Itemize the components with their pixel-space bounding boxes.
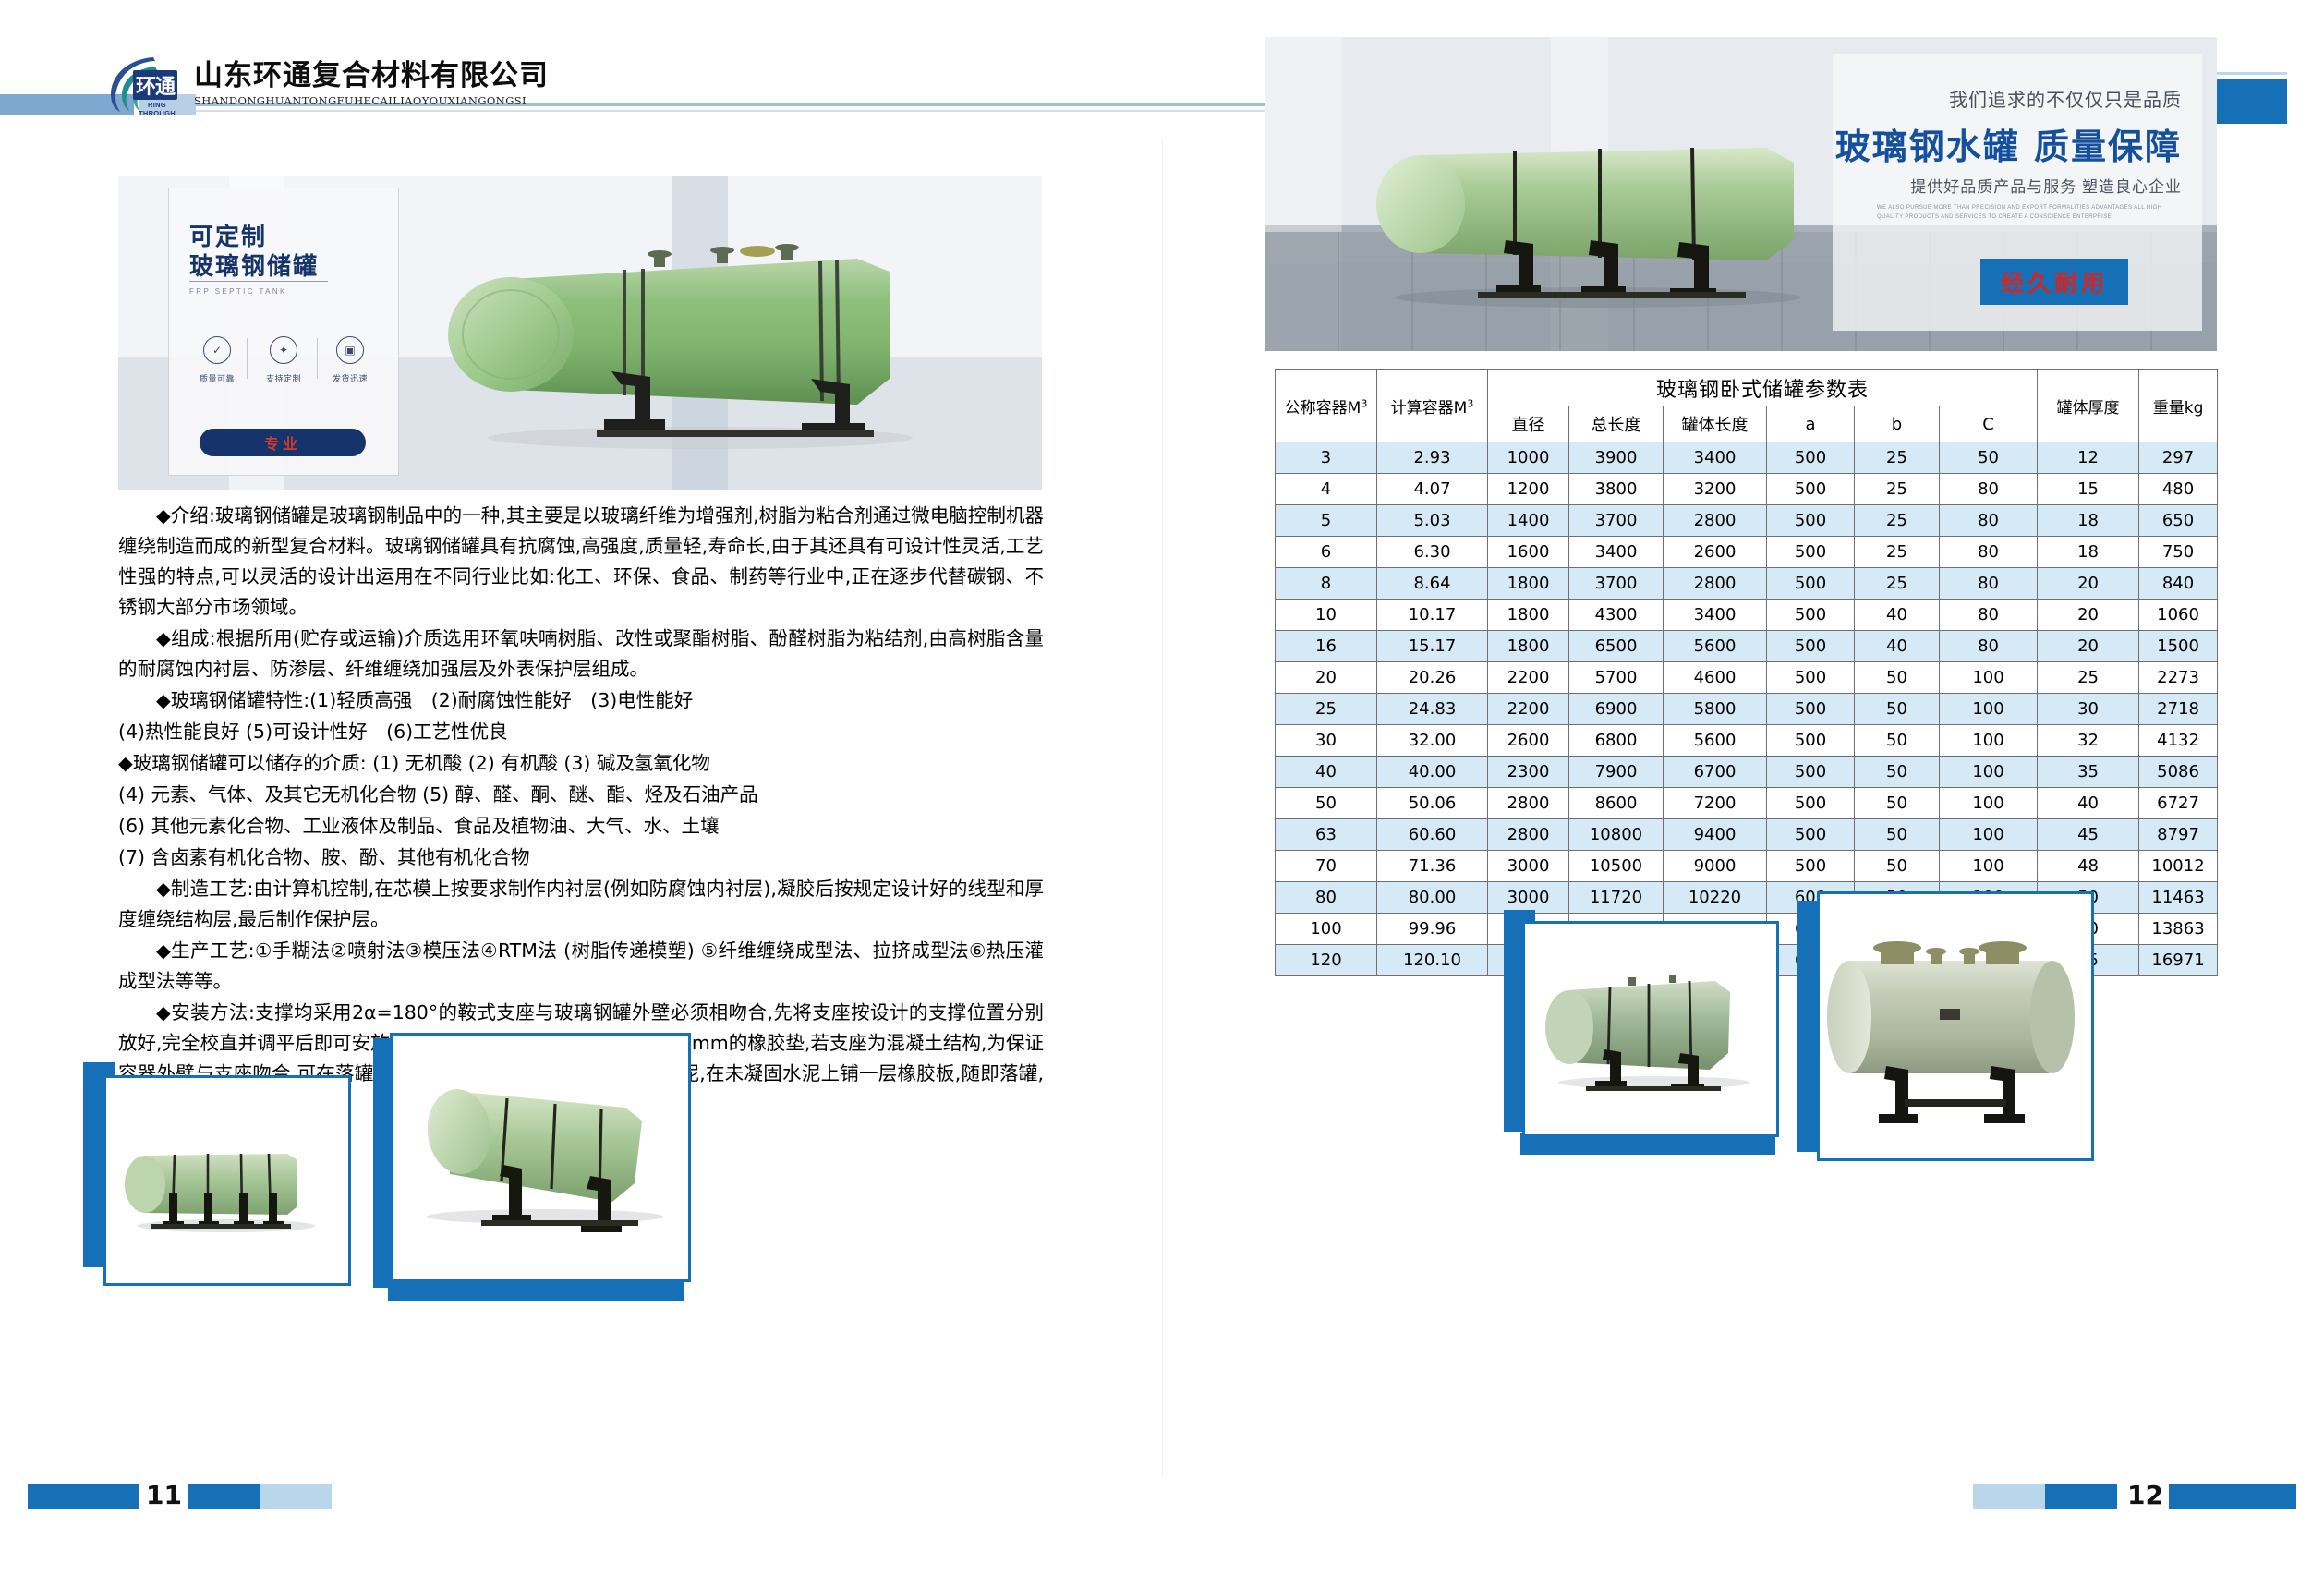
table-cell: 50.06 (1377, 788, 1488, 819)
table-cell: 18 (2038, 537, 2139, 568)
table-cell: 500 (1767, 474, 1855, 505)
table-cell: 40.00 (1377, 757, 1488, 788)
table-cell: 18 (2038, 505, 2139, 537)
table-cell: 1500 (2139, 631, 2218, 662)
frp-tank-photo-3 (1525, 924, 1776, 1134)
description-paragraph: ◆玻璃钢储罐特性:(1)轻质高强 (2)耐腐蚀性能好 (3)电性能好 (118, 685, 1044, 716)
hero-left-feature-list: ✓ 质量可靠 ✦ 支持定制 ▣ 发货迅速 (184, 336, 383, 384)
footer-left-block-2 (188, 1484, 260, 1509)
product-photo-frame-3 (1504, 910, 1781, 1155)
table-row: 2524.8322006900580050050100302718 (1276, 694, 2218, 725)
table-cell: 5086 (2139, 757, 2218, 788)
footer-left-block-1 (28, 1484, 139, 1509)
quality-icon: ✓ (203, 336, 231, 364)
table-cell: 100 (1940, 694, 2038, 725)
table-cell: 30 (1276, 725, 1377, 757)
frame-2-inner (390, 1033, 691, 1282)
header-calculated-volume: 计算容器M3 (1377, 370, 1488, 442)
table-cell: 5700 (1569, 662, 1664, 694)
table-row: 44.07120038003200500258015480 (1276, 474, 2218, 505)
table-cell: 100 (1276, 914, 1377, 945)
header-calculated-volume-sup: 3 (1467, 397, 1473, 409)
table-row: 32.93100039003400500255012297 (1276, 442, 2218, 474)
table-cell: 80 (1276, 882, 1377, 914)
table-cell: 480 (2139, 474, 2218, 505)
table-cell: 2.93 (1377, 442, 1488, 474)
table-row: 4040.0023007900670050050100355086 (1276, 757, 2218, 788)
table-cell: 100 (1940, 725, 2038, 757)
table-cell: 3800 (1569, 474, 1664, 505)
table-cell: 500 (1767, 537, 1855, 568)
table-cell: 3400 (1664, 442, 1767, 474)
table-cell: 4600 (1664, 662, 1767, 694)
table-cell: 25 (1855, 505, 1940, 537)
footer-left-block-3 (260, 1484, 332, 1509)
table-cell: 750 (2139, 537, 2218, 568)
table-cell: 16971 (2139, 945, 2218, 976)
table-cell: 50 (1855, 725, 1940, 757)
table-row: 7071.363000105009000500501004810012 (1276, 851, 2218, 882)
description-paragraph: (7) 含卤素有机化合物、胺、酚、其他有机化合物 (118, 842, 1044, 873)
table-cell: 25 (1855, 537, 1940, 568)
table-cell: 16 (1276, 631, 1377, 662)
table-cell: 500 (1767, 631, 1855, 662)
table-cell: 60.60 (1377, 819, 1488, 851)
table-cell: 1060 (2139, 600, 2218, 631)
hero-right-line4: WE ALSO PURSUE MORE THAN PRECISION AND E… (1877, 203, 2182, 222)
hero-left-cta-button[interactable]: 专业 (200, 429, 366, 456)
table-cell: 5800 (1664, 694, 1767, 725)
table-cell: 5.03 (1377, 505, 1488, 537)
table-cell: 35 (2038, 757, 2139, 788)
company-name-block: 山东环通复合材料有限公司 SHANDONGHUANTONGFUHECAILIAO… (194, 61, 549, 107)
table-cell: 3000 (1488, 882, 1569, 914)
table-cell: 25 (1855, 442, 1940, 474)
hero-left-divider (189, 281, 328, 282)
table-cell: 45 (2038, 819, 2139, 851)
table-cell: 11463 (2139, 882, 2218, 914)
table-cell: 6.30 (1377, 537, 1488, 568)
product-description-text: ◆介绍:玻璃钢储罐是玻璃钢制品中的一种,其主要是以玻璃纤维为增强剂,树脂为粘合剂… (118, 501, 1044, 1121)
spec-table-header-row-1: 公称容器M3 计算容器M3 玻璃钢卧式储罐参数表 罐体厚度 重量kg (1276, 370, 2218, 406)
table-cell: 9000 (1664, 851, 1767, 882)
table-cell: 120.10 (1377, 945, 1488, 976)
table-cell: 20 (2038, 600, 2139, 631)
table-cell: 7200 (1664, 788, 1767, 819)
product-photo-frame-4 (1797, 891, 2092, 1164)
table-cell: 2600 (1488, 725, 1569, 757)
table-cell: 10 (1276, 600, 1377, 631)
table-cell: 8797 (2139, 819, 2218, 851)
table-cell: 80 (1940, 474, 2038, 505)
table-cell: 2273 (2139, 662, 2218, 694)
logo-badge-text: 环通 (133, 70, 177, 100)
table-cell: 12 (2038, 442, 2139, 474)
table-cell: 80 (1940, 568, 2038, 600)
table-cell: 500 (1767, 662, 1855, 694)
spec-subheader-cell: b (1855, 406, 1940, 442)
table-cell: 10800 (1569, 819, 1664, 851)
footer-right-block-3 (2169, 1484, 2296, 1509)
table-row: 1615.171800650056005004080201500 (1276, 631, 2218, 662)
product-photo-frame-2 (373, 1033, 696, 1301)
table-cell: 30 (2038, 694, 2139, 725)
footer-right-block-1 (1973, 1484, 2045, 1509)
table-cell: 11720 (1569, 882, 1664, 914)
table-cell: 24.83 (1377, 694, 1488, 725)
hero-right-line3: 提供好品质产品与服务 塑造良心企业 (1910, 174, 2182, 197)
table-cell: 2800 (1664, 505, 1767, 537)
table-cell: 25 (1855, 568, 1940, 600)
hero-left-feature-1: ✓ 质量可靠 (188, 336, 247, 384)
table-cell: 2800 (1488, 819, 1569, 851)
frp-tank-photo-1 (106, 1078, 348, 1283)
table-row: 3032.0026006800560050050100324132 (1276, 725, 2218, 757)
frame-3-inner (1522, 921, 1779, 1137)
table-cell: 2600 (1664, 537, 1767, 568)
table-cell: 40 (1276, 757, 1377, 788)
table-cell: 15.17 (1377, 631, 1488, 662)
table-cell: 500 (1767, 757, 1855, 788)
hero-left-feature-3: ▣ 发货迅速 (321, 336, 380, 384)
hero-left-title-line2: 玻璃钢储罐 (189, 248, 319, 282)
table-cell: 6 (1276, 537, 1377, 568)
table-cell: 3000 (1488, 851, 1569, 882)
table-cell: 2800 (1664, 568, 1767, 600)
table-cell: 20 (1276, 662, 1377, 694)
product-photo-frame-1 (83, 1062, 351, 1289)
table-cell: 2200 (1488, 662, 1569, 694)
spec-table: 公称容器M3 计算容器M3 玻璃钢卧式储罐参数表 罐体厚度 重量kg 直径总长度… (1275, 369, 2218, 976)
table-row: 2020.2622005700460050050100252273 (1276, 662, 2218, 694)
description-paragraph: ◆生产工艺:①手糊法②喷射法③模压法④RTM法 (树脂传递模塑) ⑤纤维缠绕成型… (118, 936, 1044, 997)
table-cell: 100 (1940, 757, 2038, 788)
footer-page-number-left: 11 (146, 1480, 182, 1510)
table-cell: 6900 (1569, 694, 1664, 725)
table-row: 5050.0628008600720050050100406727 (1276, 788, 2218, 819)
spec-subheader-cell: 直径 (1488, 406, 1569, 442)
header-wall-thickness: 罐体厚度 (2038, 370, 2139, 442)
table-cell: 10220 (1664, 882, 1767, 914)
table-cell: 3400 (1664, 600, 1767, 631)
table-row: 66.30160034002600500258018750 (1276, 537, 2218, 568)
shipping-icon: ▣ (336, 336, 364, 364)
table-cell: 80 (1940, 600, 2038, 631)
table-cell: 6500 (1569, 631, 1664, 662)
table-cell: 10500 (1569, 851, 1664, 882)
table-cell: 8600 (1569, 788, 1664, 819)
table-cell: 120 (1276, 945, 1377, 976)
table-cell: 500 (1767, 568, 1855, 600)
table-cell: 63 (1276, 819, 1377, 851)
table-cell: 4 (1276, 474, 1377, 505)
table-cell: 7900 (1569, 757, 1664, 788)
table-cell: 50 (1855, 757, 1940, 788)
table-cell: 3700 (1569, 505, 1664, 537)
table-cell: 50 (1855, 694, 1940, 725)
table-cell: 2300 (1488, 757, 1569, 788)
table-cell: 80.00 (1377, 882, 1488, 914)
table-cell: 4.07 (1377, 474, 1488, 505)
hero-left-caption-card: 可定制 玻璃钢储罐 FRP SEPTIC TANK ✓ 质量可靠 ✦ 支持定制 (169, 188, 398, 475)
table-cell: 8 (1276, 568, 1377, 600)
table-cell: 20 (2038, 631, 2139, 662)
table-cell: 10.17 (1377, 600, 1488, 631)
table-cell: 500 (1767, 442, 1855, 474)
table-cell: 15 (2038, 474, 2139, 505)
table-cell: 40 (1855, 600, 1940, 631)
table-cell: 6700 (1664, 757, 1767, 788)
table-cell: 99.96 (1377, 914, 1488, 945)
hero-right-badge: 经久耐用 (1980, 259, 2128, 305)
table-cell: 3200 (1664, 474, 1767, 505)
table-row: 88.64180037002800500258020840 (1276, 568, 2218, 600)
brochure-spread: 环通 RING THROUGH 山东环通复合材料有限公司 SHANDONGHUA… (0, 0, 2324, 1587)
table-cell: 500 (1767, 600, 1855, 631)
table-cell: 500 (1767, 505, 1855, 537)
table-cell: 25 (1855, 474, 1940, 505)
hero-left-subtitle-en: FRP SEPTIC TANK (189, 287, 287, 296)
table-cell: 25 (2038, 662, 2139, 694)
table-cell: 5600 (1664, 631, 1767, 662)
table-cell: 10012 (2139, 851, 2218, 882)
frame-1-inner (103, 1075, 351, 1286)
footer-right-block-2 (2045, 1484, 2117, 1509)
table-cell: 1000 (1488, 442, 1569, 474)
spec-subheader-cell: 罐体长度 (1664, 406, 1767, 442)
description-paragraph: ◆介绍:玻璃钢储罐是玻璃钢制品中的一种,其主要是以玻璃纤维为增强剂,树脂为粘合剂… (118, 501, 1044, 623)
table-cell: 500 (1767, 725, 1855, 757)
frp-tank-photo-banner (1349, 102, 1847, 314)
frp-tank-photo-main (423, 224, 940, 454)
description-paragraph: (4) 元素、气体、及其它无机化合物 (5) 醇、醛、酮、醚、酯、烃及石油产品 (118, 780, 1044, 810)
description-paragraph: (6) 其他元素化合物、工业液体及制品、食品及植物油、大气、水、土壤 (118, 811, 1044, 842)
header-nominal-volume-text: 公称容器M (1285, 399, 1362, 418)
table-cell: 50 (1940, 442, 2038, 474)
header-nominal-volume-sup: 3 (1361, 397, 1367, 409)
table-cell: 1800 (1488, 568, 1569, 600)
header-nominal-volume: 公称容器M3 (1276, 370, 1377, 442)
logo-english-text: RING THROUGH (133, 101, 181, 117)
table-cell: 6727 (2139, 788, 2218, 819)
table-cell: 3900 (1569, 442, 1664, 474)
table-row: 1010.171800430034005004080201060 (1276, 600, 2218, 631)
table-cell: 71.36 (1377, 851, 1488, 882)
spec-subheader-cell: C (1940, 406, 2038, 442)
table-cell: 6800 (1569, 725, 1664, 757)
table-cell: 3 (1276, 442, 1377, 474)
hero-image-left: 可定制 玻璃钢储罐 FRP SEPTIC TANK ✓ 质量可靠 ✦ 支持定制 (118, 176, 1042, 490)
hero-right-line1: 我们追求的不仅仅只是品质 (1949, 85, 2182, 112)
logo-mark-icon: 环通 RING THROUGH (109, 54, 179, 115)
table-cell: 1600 (1488, 537, 1569, 568)
table-cell: 4132 (2139, 725, 2218, 757)
table-row: 55.03140037002800500258018650 (1276, 505, 2218, 537)
table-cell: 840 (2139, 568, 2218, 600)
table-cell: 8.64 (1377, 568, 1488, 600)
table-cell: 3700 (1569, 568, 1664, 600)
table-cell: 32.00 (1377, 725, 1488, 757)
table-row: 6360.60280010800940050050100458797 (1276, 819, 2218, 851)
table-cell: 5600 (1664, 725, 1767, 757)
footer-page-number-right: 12 (2127, 1480, 2163, 1510)
table-cell: 13863 (2139, 914, 2218, 945)
table-cell: 2200 (1488, 694, 1569, 725)
table-cell: 32 (2038, 725, 2139, 757)
table-cell: 1400 (1488, 505, 1569, 537)
left-page: 可定制 玻璃钢储罐 FRP SEPTIC TANK ✓ 质量可靠 ✦ 支持定制 (0, 139, 1162, 1587)
table-cell: 2718 (2139, 694, 2218, 725)
table-cell: 1200 (1488, 474, 1569, 505)
table-cell: 100 (1940, 788, 2038, 819)
table-cell: 40 (2038, 788, 2139, 819)
table-cell: 50 (1855, 788, 1940, 819)
table-cell: 4300 (1569, 600, 1664, 631)
table-cell: 3400 (1569, 537, 1664, 568)
spec-table-wrapper: 公称容器M3 计算容器M3 玻璃钢卧式储罐参数表 罐体厚度 重量kg 直径总长度… (1275, 369, 2217, 976)
table-cell: 50 (1855, 851, 1940, 882)
table-cell: 500 (1767, 851, 1855, 882)
hero-left-feature-2: ✦ 支持定制 (254, 336, 313, 384)
header-group-title: 玻璃钢卧式储罐参数表 (1488, 370, 2038, 406)
table-cell: 20 (2038, 568, 2139, 600)
hero-right-line2: 玻璃钢水罐 质量保障 (1835, 118, 2182, 169)
table-cell: 70 (1276, 851, 1377, 882)
hero-image-right: 我们追求的不仅仅只是品质 玻璃钢水罐 质量保障 提供好品质产品与服务 塑造良心企… (1265, 37, 2217, 351)
hero-left-feature-1-label: 质量可靠 (188, 372, 247, 384)
table-cell: 100 (1940, 851, 2038, 882)
table-cell: 1800 (1488, 631, 1569, 662)
company-name-en: SHANDONGHUANTONGFUHECAILIAOYOUXIANGONGSI (194, 94, 549, 107)
table-cell: 1800 (1488, 600, 1569, 631)
table-cell: 5 (1276, 505, 1377, 537)
spec-subheader-cell: a (1767, 406, 1855, 442)
table-cell: 80 (1940, 631, 2038, 662)
table-cell: 500 (1767, 694, 1855, 725)
company-logo: 环通 RING THROUGH 山东环通复合材料有限公司 SHANDONGHUA… (109, 54, 549, 115)
page-footer: 11 12 (0, 1474, 2324, 1530)
table-cell: 48 (2038, 851, 2139, 882)
frp-tank-photo-2 (393, 1036, 688, 1279)
description-paragraph: ◆制造工艺:由计算机控制,在芯模上按要求制作内衬层(例如防腐蚀内衬层),凝胶后按… (118, 874, 1044, 935)
header-calculated-volume-text: 计算容器M (1391, 399, 1468, 418)
table-cell: 500 (1767, 819, 1855, 851)
hero-left-feature-2-label: 支持定制 (254, 372, 313, 384)
table-cell: 20.26 (1377, 662, 1488, 694)
spec-subheader-cell: 总长度 (1569, 406, 1664, 442)
table-cell: 50 (1855, 662, 1940, 694)
company-name-cn: 山东环通复合材料有限公司 (194, 61, 549, 91)
table-cell: 80 (1940, 537, 2038, 568)
description-paragraph: (4)热性能良好 (5)可设计性好 (6)工艺性优良 (118, 717, 1044, 747)
table-cell: 297 (2139, 442, 2218, 474)
table-cell: 100 (1940, 662, 2038, 694)
table-cell: 50 (1276, 788, 1377, 819)
hero-left-feature-3-label: 发货迅速 (321, 372, 380, 384)
table-cell: 100 (1940, 819, 2038, 851)
table-cell: 500 (1767, 788, 1855, 819)
table-cell: 650 (2139, 505, 2218, 537)
table-cell: 40 (1855, 631, 1940, 662)
description-paragraph: ◆玻璃钢储罐可以储存的介质: (1) 无机酸 (2) 有机酸 (3) 碱及氢氧化… (118, 748, 1044, 779)
frp-tank-photo-4 (1820, 894, 2091, 1158)
table-cell: 50 (1855, 819, 1940, 851)
table-cell: 25 (1276, 694, 1377, 725)
description-paragraph: ◆组成:根据所用(贮存或运输)介质选用环氧呋喃树脂、改性或聚酯树脂、酚醛树脂为粘… (118, 624, 1044, 684)
table-cell: 2800 (1488, 788, 1569, 819)
table-cell: 80 (1940, 505, 2038, 537)
frame-4-inner (1817, 891, 2094, 1161)
table-cell: 9400 (1664, 819, 1767, 851)
customize-icon: ✦ (270, 336, 297, 364)
header-weight: 重量kg (2139, 370, 2218, 442)
